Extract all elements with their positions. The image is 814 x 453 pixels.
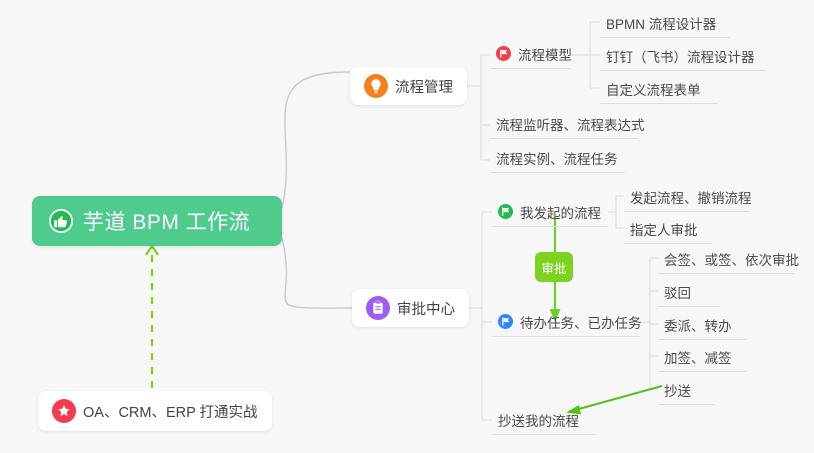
approval-badge[interactable]: 审批	[535, 252, 573, 282]
root-label: 芋道 BPM 工作流	[83, 206, 250, 236]
callout-node-integration[interactable]: OA、CRM、ERP 打通实战	[38, 391, 272, 431]
flag-icon	[498, 314, 513, 329]
node-label: 流程模型	[518, 44, 572, 64]
callout-arrow-head	[146, 246, 158, 255]
node-custom-form[interactable]: 自定义流程表单	[600, 74, 718, 104]
thumbs-up-icon	[48, 208, 74, 234]
callout-label: OA、CRM、ERP 打通实战	[83, 401, 258, 422]
node-reject[interactable]: 驳回	[658, 277, 720, 307]
branch-label: 流程管理	[395, 76, 453, 97]
node-label: 流程监听器、流程表达式	[496, 114, 645, 138]
node-label: 抄送	[664, 380, 691, 404]
node-cc-to-me[interactable]: 抄送我的流程	[492, 405, 596, 435]
flag-icon	[496, 46, 511, 61]
node-countersign[interactable]: 会签、或签、依次审批	[658, 244, 794, 274]
node-process-instance[interactable]: 流程实例、流程任务	[490, 143, 625, 173]
approval-badge-label: 审批	[541, 258, 566, 277]
node-label: 会签、或签、依次审批	[664, 249, 799, 273]
node-add-remove-sign[interactable]: 加签、减签	[658, 342, 746, 372]
root-node[interactable]: 芋道 BPM 工作流	[32, 196, 282, 246]
lightbulb-icon	[364, 74, 388, 98]
node-label: 钉钉（飞书）流程设计器	[606, 46, 755, 70]
node-label: 发起流程、撤销流程	[630, 187, 752, 211]
node-dingtalk-designer[interactable]: 钉钉（飞书）流程设计器	[600, 41, 766, 71]
node-process-model[interactable]: 流程模型	[490, 39, 570, 69]
node-my-started-processes[interactable]: 我发起的流程	[492, 197, 608, 227]
node-process-listener[interactable]: 流程监听器、流程表达式	[490, 109, 638, 139]
node-label: 加签、减签	[664, 347, 732, 371]
connector-root-to-branch-1	[282, 72, 350, 208]
node-label: 我发起的流程	[520, 202, 601, 222]
mindmap-canvas: 芋道 BPM 工作流 流程管理 流程模型 BPMN 流程设计器 钉钉（飞书）流程…	[0, 0, 814, 453]
node-label: BPMN 流程设计器	[606, 13, 716, 37]
connector-root-to-branch-2	[282, 238, 352, 308]
node-label: 流程实例、流程任务	[496, 148, 618, 172]
node-label: 待办任务、已办任务	[520, 312, 642, 332]
clipboard-icon	[366, 296, 390, 320]
node-label: 自定义流程表单	[606, 79, 701, 103]
flag-icon	[498, 204, 513, 219]
node-label: 驳回	[664, 282, 691, 306]
star-icon	[52, 399, 76, 423]
node-start-cancel-process[interactable]: 发起流程、撤销流程	[624, 182, 750, 212]
node-todo-done-tasks[interactable]: 待办任务、已办任务	[492, 307, 640, 337]
node-label: 抄送我的流程	[498, 410, 579, 434]
node-bpmn-designer[interactable]: BPMN 流程设计器	[600, 8, 730, 38]
node-carbon-copy[interactable]: 抄送	[658, 375, 714, 405]
branch-label: 审批中心	[397, 298, 455, 319]
branch-node-process-management[interactable]: 流程管理	[350, 67, 467, 105]
node-assignee-approval[interactable]: 指定人审批	[624, 214, 712, 244]
branch-node-approval-center[interactable]: 审批中心	[352, 289, 469, 327]
node-label: 指定人审批	[630, 219, 698, 243]
node-delegate-transfer[interactable]: 委派、转办	[658, 310, 746, 340]
node-label: 委派、转办	[664, 315, 732, 339]
